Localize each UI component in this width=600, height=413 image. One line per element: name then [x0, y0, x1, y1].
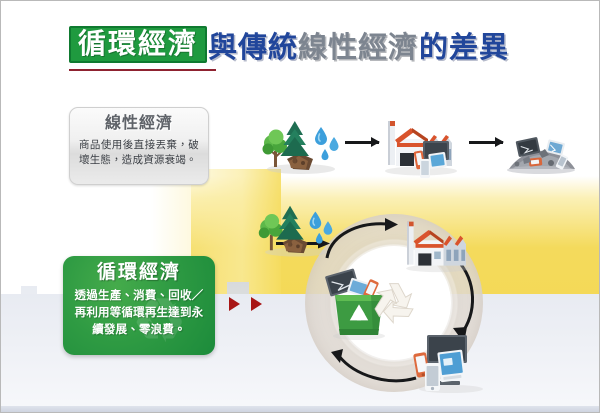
linear-arrow-1: [345, 141, 379, 144]
red-arrow-icon-2: [251, 297, 262, 311]
linear-economy-card: 線性經濟 商品使用後直接丟棄，破壞生態，造成資源衰竭。: [69, 107, 209, 185]
circular-flow-diagram: [281, 206, 531, 401]
circular-economy-card: ♻ 循環經濟 透過生產、消費、回收／再利用等循環再生達到永續發展、零浪費。: [63, 256, 215, 355]
linear-economy-heading: 線性經濟: [79, 115, 199, 133]
red-pointer-arrows: [229, 297, 262, 311]
circular-consumer-products-icon: [409, 329, 489, 395]
circular-economy-description: 透過生產、消費、回收／再利用等循環再生達到永續發展、零浪費。: [73, 288, 205, 340]
linear-economy-description: 商品使用後直接丟棄，破壞生態，造成資源衰竭。: [79, 138, 199, 168]
natural-resources-icon: [263, 113, 341, 175]
title-connector: 與傳統: [208, 34, 298, 63]
circular-natural-resources-icon: [259, 198, 335, 258]
title-linear-economy: 線性經濟: [298, 34, 418, 63]
title-highlight-circular-economy: 循環經濟: [69, 26, 207, 63]
infographic-poster: 循環經濟 與傳統 線性經濟 的差異 線性經濟 商品使用後直接丟棄，破壞生態，造成…: [0, 0, 600, 413]
recycle-symbol-icon: [363, 272, 425, 334]
red-arrow-icon-1: [229, 297, 240, 311]
linear-arrow-2: [469, 141, 503, 144]
linear-flow-diagram: [263, 113, 563, 181]
circular-economy-heading: 循環經濟: [73, 262, 205, 284]
title-underline: [69, 69, 216, 71]
circular-factory-icon: [398, 216, 476, 274]
factory-production-icon: [381, 113, 463, 177]
waste-dump-icon: [503, 119, 579, 175]
page-title: 循環經濟 與傳統 線性經濟 的差異: [69, 26, 509, 63]
background-bottom-bar: [1, 406, 599, 412]
title-tail: 的差異: [419, 34, 509, 63]
